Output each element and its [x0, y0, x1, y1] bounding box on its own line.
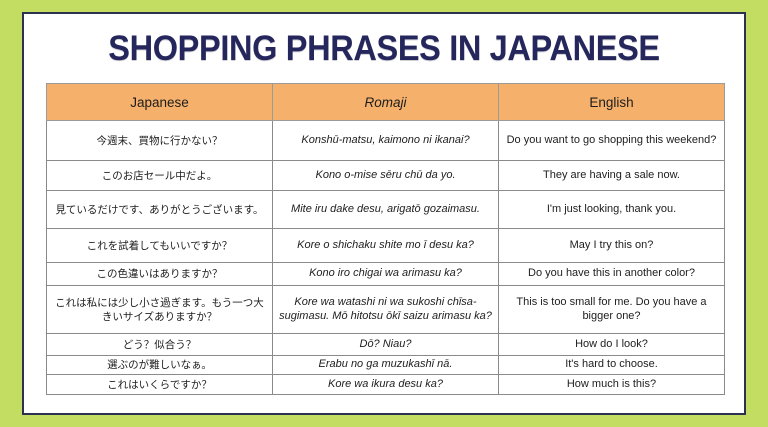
cell-english: This is too small for me. Do you have a … — [499, 286, 725, 334]
table-row: この色違いはありますか？Kono iro chigai wa arimasu k… — [47, 263, 725, 286]
cell-romaji: Konshū-matsu, kaimono ni ikanai? — [273, 121, 499, 161]
cell-english: How do I look? — [499, 334, 725, 356]
cell-english: May I try this on? — [499, 229, 725, 263]
table-header-row: Japanese Romaji English — [47, 84, 725, 121]
table-row: これを試着してもいいですか？Kore o shichaku shite mo ī… — [47, 229, 725, 263]
table-row: 今週末、買物に行かない？Konshū-matsu, kaimono ni ika… — [47, 121, 725, 161]
cell-romaji: Kore o shichaku shite mo ī desu ka? — [273, 229, 499, 263]
cell-romaji: Mite iru dake desu, arigatō gozaimasu. — [273, 191, 499, 229]
cell-japanese: どう？似合う？ — [47, 334, 273, 356]
cell-japanese: 選ぶのが難しいなぁ。 — [47, 356, 273, 375]
cell-english: It's hard to choose. — [499, 356, 725, 375]
cell-romaji: Kono o-mise sēru chū da yo. — [273, 161, 499, 191]
cell-romaji: Kore wa ikura desu ka? — [273, 375, 499, 395]
table-row: 選ぶのが難しいなぁ。Erabu no ga muzukashī nā.It's … — [47, 356, 725, 375]
table-row: このお店セール中だよ。Kono o-mise sēru chū da yo.Th… — [47, 161, 725, 191]
cell-japanese: 見ているだけです、ありがとうございます。 — [47, 191, 273, 229]
cell-japanese: これを試着してもいいですか？ — [47, 229, 273, 263]
table-header: Japanese Romaji English — [47, 84, 725, 121]
cell-japanese: このお店セール中だよ。 — [47, 161, 273, 191]
cell-romaji: Kono iro chigai wa arimasu ka? — [273, 263, 499, 286]
table-row: これはいくらですか？Kore wa ikura desu ka?How much… — [47, 375, 725, 395]
cell-japanese: これはいくらですか？ — [47, 375, 273, 395]
column-header-romaji: Romaji — [273, 84, 499, 121]
cell-english: They are having a sale now. — [499, 161, 725, 191]
table-body: 今週末、買物に行かない？Konshū-matsu, kaimono ni ika… — [47, 121, 725, 395]
cell-romaji: Kore wa watashi ni wa sukoshi chīsa-sugi… — [273, 286, 499, 334]
cell-english: I'm just looking, thank you. — [499, 191, 725, 229]
cell-japanese: この色違いはありますか？ — [47, 263, 273, 286]
cell-japanese: これは私には少し小さ過ぎます。もう一つ大きいサイズありますか？ — [47, 286, 273, 334]
column-header-japanese: Japanese — [47, 84, 273, 121]
poster-canvas: SHOPPING PHRASES IN JAPANESE Japanese Ro… — [0, 0, 768, 427]
table-row: 見ているだけです、ありがとうございます。Mite iru dake desu, … — [47, 191, 725, 229]
phrase-table: Japanese Romaji English 今週末、買物に行かない？Kons… — [46, 83, 725, 395]
cell-english: Do you want to go shopping this weekend? — [499, 121, 725, 161]
cell-english: How much is this? — [499, 375, 725, 395]
table-row: これは私には少し小さ過ぎます。もう一つ大きいサイズありますか？Kore wa w… — [47, 286, 725, 334]
page-title: SHOPPING PHRASES IN JAPANESE — [49, 28, 719, 70]
column-header-english: English — [499, 84, 725, 121]
cell-romaji: Dō? Niau? — [273, 334, 499, 356]
table-row: どう？似合う？Dō? Niau?How do I look? — [47, 334, 725, 356]
cell-english: Do you have this in another color? — [499, 263, 725, 286]
cell-romaji: Erabu no ga muzukashī nā. — [273, 356, 499, 375]
poster-card: SHOPPING PHRASES IN JAPANESE Japanese Ro… — [22, 12, 746, 415]
cell-japanese: 今週末、買物に行かない？ — [47, 121, 273, 161]
